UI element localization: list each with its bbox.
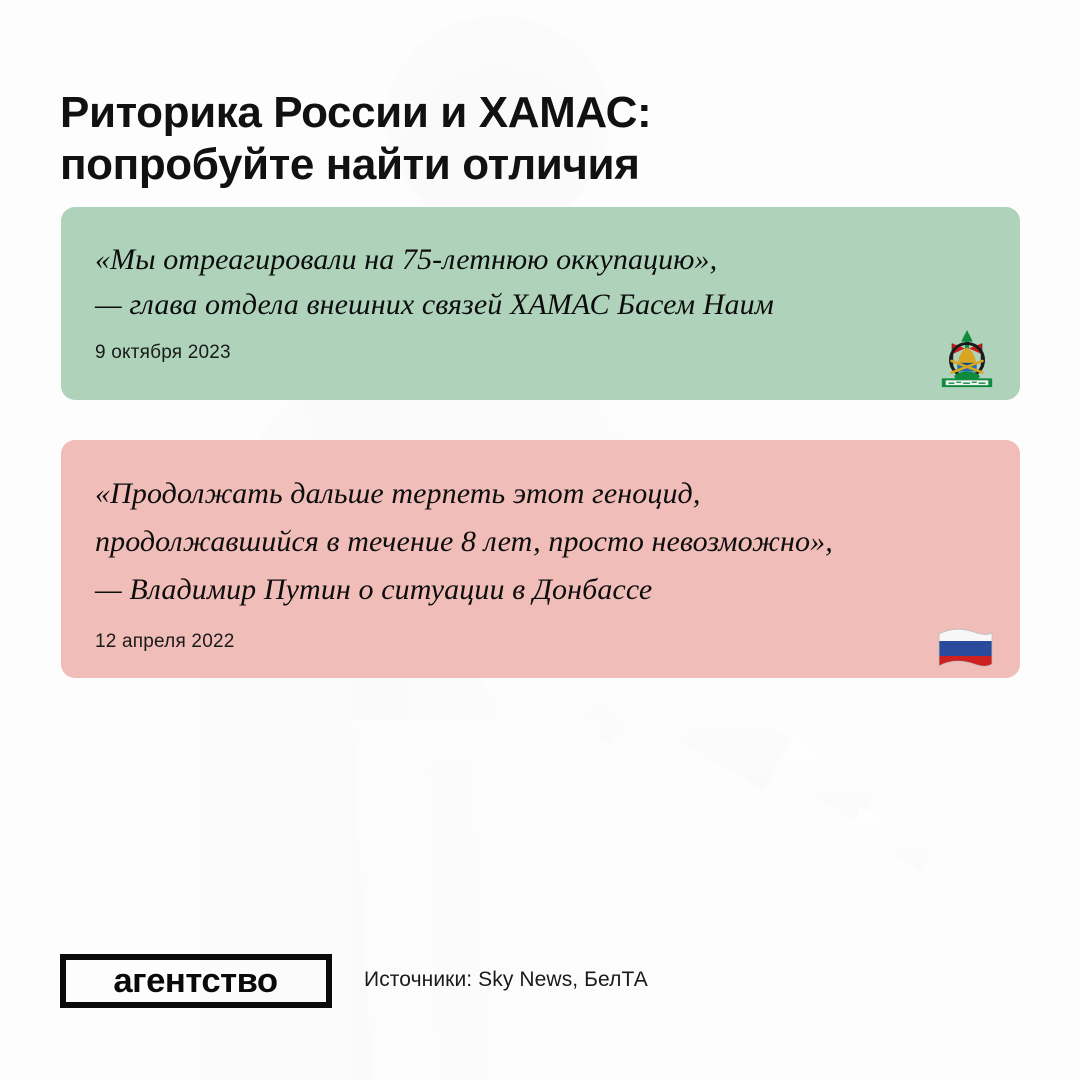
putin-quote-card: «Продолжать дальше терпеть этот геноцид,… [61,440,1020,678]
page-title: Риторика России и ХАМАС: попробуйте найт… [60,87,980,191]
hamas-quote-card: «Мы отреагировали на 75-летнюю оккупацию… [61,207,1020,400]
agentstvo-logo: агентство [60,954,332,1008]
agentstvo-logo-text: агентство [114,964,278,998]
hamas-quote-date: 9 октября 2023 [95,341,986,365]
russia-flag-icon [936,626,994,672]
sources-label: Источники: Sky News, БелТА [364,966,648,994]
putin-quote-text: «Продолжать дальше терпеть этот геноцид,… [95,470,986,614]
putin-quote-date: 12 апреля 2022 [95,630,986,654]
infographic-canvas: Риторика России и ХАМАС: попробуйте найт… [0,0,1080,1080]
hamas-emblem-icon [936,328,998,390]
hamas-quote-text: «Мы отреагировали на 75-летнюю оккупацию… [95,237,986,327]
